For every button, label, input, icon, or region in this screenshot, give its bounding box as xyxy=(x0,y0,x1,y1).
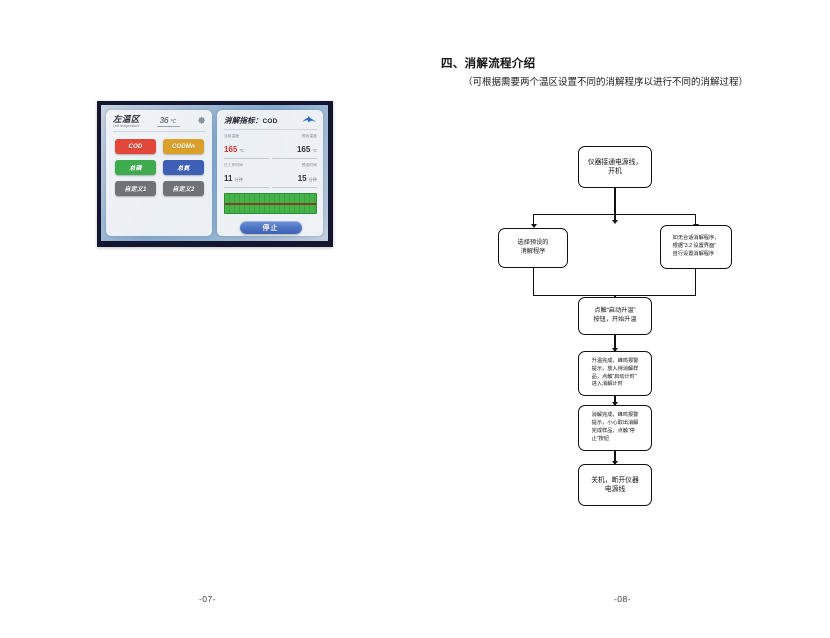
page-number-right: -08- xyxy=(415,594,830,604)
readout-value: 165 xyxy=(297,145,310,154)
back-arrow-icon[interactable] xyxy=(302,116,317,126)
current-temperature-display: 36℃ xyxy=(157,116,181,127)
flow-node-text: 消解完成，蜂鸣报警提示，小心取出消解完成样品，点触“停止”按钮 xyxy=(589,412,642,443)
device-screen: 左温区 Left temperature 36℃ COD xyxy=(101,105,328,241)
indicator-title-code: COD xyxy=(263,118,278,125)
flow-connector xyxy=(695,269,696,296)
readout-label: 预设温度 xyxy=(272,134,317,139)
readout-underline xyxy=(224,187,269,188)
device-left-panel: 左温区 Left temperature 36℃ COD xyxy=(106,110,212,236)
readout-unit: ℃ xyxy=(312,148,317,153)
flow-node-select-preset-program: 选择预设的消解程序 xyxy=(498,228,568,268)
program-button-custom-2[interactable]: 自定义2 xyxy=(163,181,204,196)
flow-node-shutdown: 关机，断开仪器电源线 xyxy=(578,464,652,506)
readout-underline xyxy=(272,187,317,188)
preset-time-readout: 预设时间 15分钟 xyxy=(272,163,317,188)
program-button-grid: COD CODMn 总磷 总氮 自定义1 自定义2 xyxy=(113,139,206,196)
flow-node-power-on: 仪器接通电源线，开机 xyxy=(578,146,652,188)
program-button-total-nitrogen[interactable]: 总氮 xyxy=(163,160,204,175)
zone-subtitle: Left temperature xyxy=(113,125,140,128)
flow-node-text: 仪器接通电源线，开机 xyxy=(585,158,645,176)
flow-node-text: 升温完成，蜂鸣报警提示，放入待消解样品，点触“启动计时”进入消解计时 xyxy=(589,358,642,389)
flow-connector xyxy=(533,268,534,296)
program-button-label: CODMn xyxy=(172,144,195,150)
flow-node-text: 关机，断开仪器电源线 xyxy=(588,476,642,494)
program-button-codmn[interactable]: CODMn xyxy=(163,139,204,154)
gear-icon[interactable] xyxy=(197,116,206,125)
flow-node-heating-complete: 升温完成，蜂鸣报警提示，放入待消解样品，点触“启动计时”进入消解计时 xyxy=(578,351,652,396)
readout-value: 11 xyxy=(224,174,232,183)
current-temperature-value: 36 xyxy=(160,116,169,125)
temperature-readout-row: 当前温度 165℃ 预设温度 165℃ xyxy=(224,134,317,159)
readout-unit: ℃ xyxy=(239,148,244,153)
program-button-label: 自定义2 xyxy=(172,184,194,193)
current-temperature-unit: ℃ xyxy=(170,119,176,125)
flow-node-configure-program: 如无合适消解程序，根据“3.2 设置界面”自行设置消解程序 xyxy=(660,225,732,269)
left-page: 左温区 Left temperature 36℃ COD xyxy=(0,0,415,638)
flowchart: 仪器接通电源线，开机 选择预设的消解程序 如无合适消解程序，根据“3.2 设置界… xyxy=(415,140,830,510)
program-button-label: 总氮 xyxy=(177,163,189,172)
flow-arrow-head xyxy=(612,220,618,224)
zone-header: 左温区 Left temperature 36℃ xyxy=(113,115,206,132)
program-button-custom-1[interactable]: 自定义1 xyxy=(115,181,156,196)
program-button-total-phosphorus[interactable]: 总磷 xyxy=(115,160,156,175)
readout-label: 预设时间 xyxy=(272,163,317,168)
readout-value: 15 xyxy=(298,174,307,183)
section-heading: 四、消解流程介绍 xyxy=(441,55,535,71)
stop-button[interactable]: 停止 xyxy=(240,221,302,234)
flow-node-text: 选择预设的消解程序 xyxy=(515,239,552,257)
readout-label: 当前温度 xyxy=(224,134,269,139)
device-ui-screenshot: 左温区 Left temperature 36℃ COD xyxy=(97,101,333,247)
program-button-cod[interactable]: COD xyxy=(115,139,156,154)
zone-title: 左温区 xyxy=(113,115,140,124)
elapsed-time-readout: 已工作时间 11分钟 xyxy=(224,163,269,188)
indicator-title: 消解指标：COD xyxy=(224,115,278,126)
stop-button-label: 停止 xyxy=(263,223,279,233)
readout-value: 165 xyxy=(224,145,237,154)
flow-node-text: 点触“启动升温”按钮，开始升温 xyxy=(590,307,639,325)
device-right-panel: 消解指标：COD 当前温度 165℃ 预设温度 165℃ xyxy=(217,110,323,236)
readout-underline xyxy=(224,158,269,159)
time-readout-row: 已工作时间 11分钟 预设时间 15分钟 xyxy=(224,163,317,188)
flow-branch-line xyxy=(533,214,696,215)
right-page: 四、消解流程介绍 （可根据需要两个温区设置不同的消解程序以进行不同的消解过程） … xyxy=(415,0,830,638)
program-button-label: COD xyxy=(129,144,143,150)
current-temperature-readout: 当前温度 165℃ xyxy=(224,134,269,159)
zone-title-wrap: 左温区 Left temperature xyxy=(113,115,140,128)
readout-label: 已工作时间 xyxy=(224,163,269,168)
flow-node-text: 如无合适消解程序，根据“3.2 设置界面”自行设置消解程序 xyxy=(670,235,723,258)
indicator-header: 消解指标：COD xyxy=(224,115,317,130)
indicator-title-prefix: 消解指标： xyxy=(224,116,263,125)
flow-connector xyxy=(614,188,615,222)
readout-unit: 分钟 xyxy=(234,177,242,182)
readout-underline xyxy=(272,158,317,159)
flow-node-digestion-complete: 消解完成，蜂鸣报警提示，小心取出消解完成样品，点触“停止”按钮 xyxy=(578,405,652,451)
flow-node-start-heating: 点触“启动升温”按钮，开始升温 xyxy=(578,297,652,335)
program-button-label: 自定义1 xyxy=(124,184,146,193)
page-number-left: -07- xyxy=(0,594,415,604)
preset-temperature-readout: 预设温度 165℃ xyxy=(272,134,317,159)
progress-bar xyxy=(224,193,317,214)
program-button-label: 总磷 xyxy=(129,163,141,172)
readout-unit: 分钟 xyxy=(309,177,317,182)
section-note: （可根据需要两个温区设置不同的消解程序以进行不同的消解过程） xyxy=(463,76,793,91)
